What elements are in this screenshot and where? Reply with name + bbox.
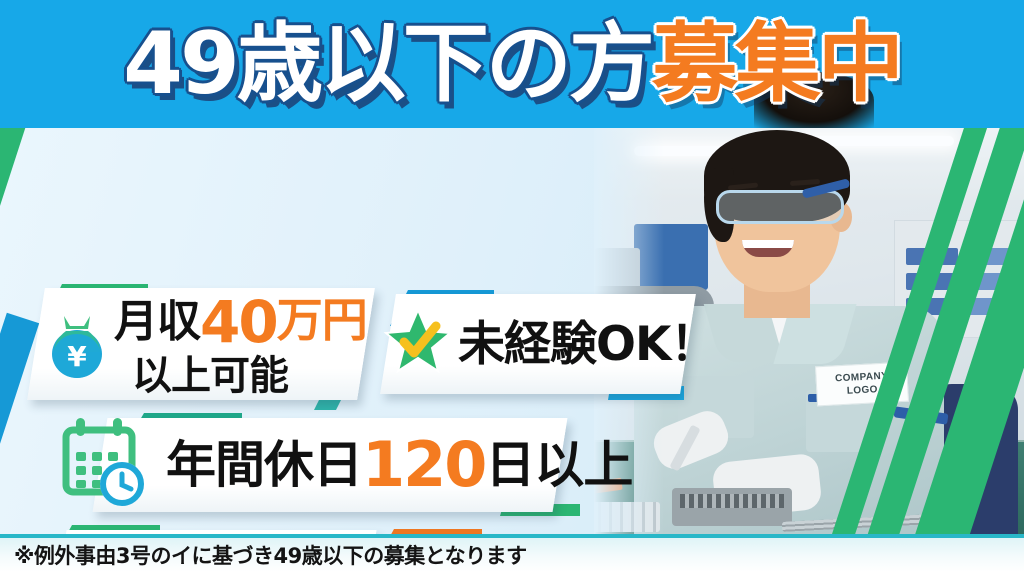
photo-logo-line2: LOGO — [846, 383, 878, 398]
footer-disclaimer-bar: ※例外事由3号のイに基づき49歳以下の募集となります — [0, 534, 1024, 572]
header-headline: 49歳以下の方 募集中 — [0, 0, 1024, 128]
badge-no-experience-content: 未経験OK！ — [388, 294, 688, 394]
badge-income-line1: 月収40万円 — [114, 293, 367, 351]
income-prefix: 月収 — [114, 296, 200, 347]
recruitment-banner: 49歳以下の方 募集中 — [0, 0, 1024, 572]
badge-annual-holidays[interactable]: 年間休日120日以上 — [93, 418, 568, 512]
header-band: 49歳以下の方 募集中 — [0, 0, 1024, 128]
money-bag-yen-icon: ¥ — [44, 310, 110, 380]
calendar-clock-icon — [52, 414, 152, 512]
photo-teeth — [742, 240, 794, 248]
badge-bracket-orange — [372, 526, 482, 534]
badge-no-experience[interactable]: 未経験OK！ — [380, 294, 696, 394]
holidays-suffix: 日以上 — [485, 436, 632, 494]
headline-orange-text: 募集中 — [652, 21, 901, 107]
headline-white-text: 49歳以下の方 — [123, 21, 652, 107]
badge-no-experience-text: 未経験OK！ — [458, 321, 716, 368]
badge-monthly-income-text: 月収40万円 以上可能 — [114, 293, 367, 396]
disclaimer-text: ※例外事由3号のイに基づき49歳以下の募集となります — [0, 540, 527, 570]
photo-components — [680, 494, 784, 508]
holidays-number: 120 — [362, 428, 485, 501]
income-number: 40 — [200, 288, 277, 356]
star-check-icon — [382, 306, 454, 376]
body-area: COMPANY LOGO — [0, 128, 1024, 534]
svg-text:¥: ¥ — [67, 340, 87, 373]
badge-annual-holidays-content: 年間休日120日以上 — [100, 418, 560, 512]
income-unit: 万円 — [277, 293, 367, 347]
badge-monthly-income[interactable]: ¥ 月収40万円 以上可能 — [27, 288, 375, 400]
decor-stripe-blue — [0, 313, 39, 534]
bracket-shape — [372, 526, 482, 534]
badge-annual-holidays-text: 年間休日120日以上 — [166, 434, 632, 496]
badge-income-line2: 以上可能 — [132, 356, 367, 396]
photo-safety-glasses — [716, 190, 844, 224]
badge-monthly-income-content: ¥ 月収40万円 以上可能 — [36, 288, 366, 400]
holidays-prefix: 年間休日 — [166, 436, 362, 494]
